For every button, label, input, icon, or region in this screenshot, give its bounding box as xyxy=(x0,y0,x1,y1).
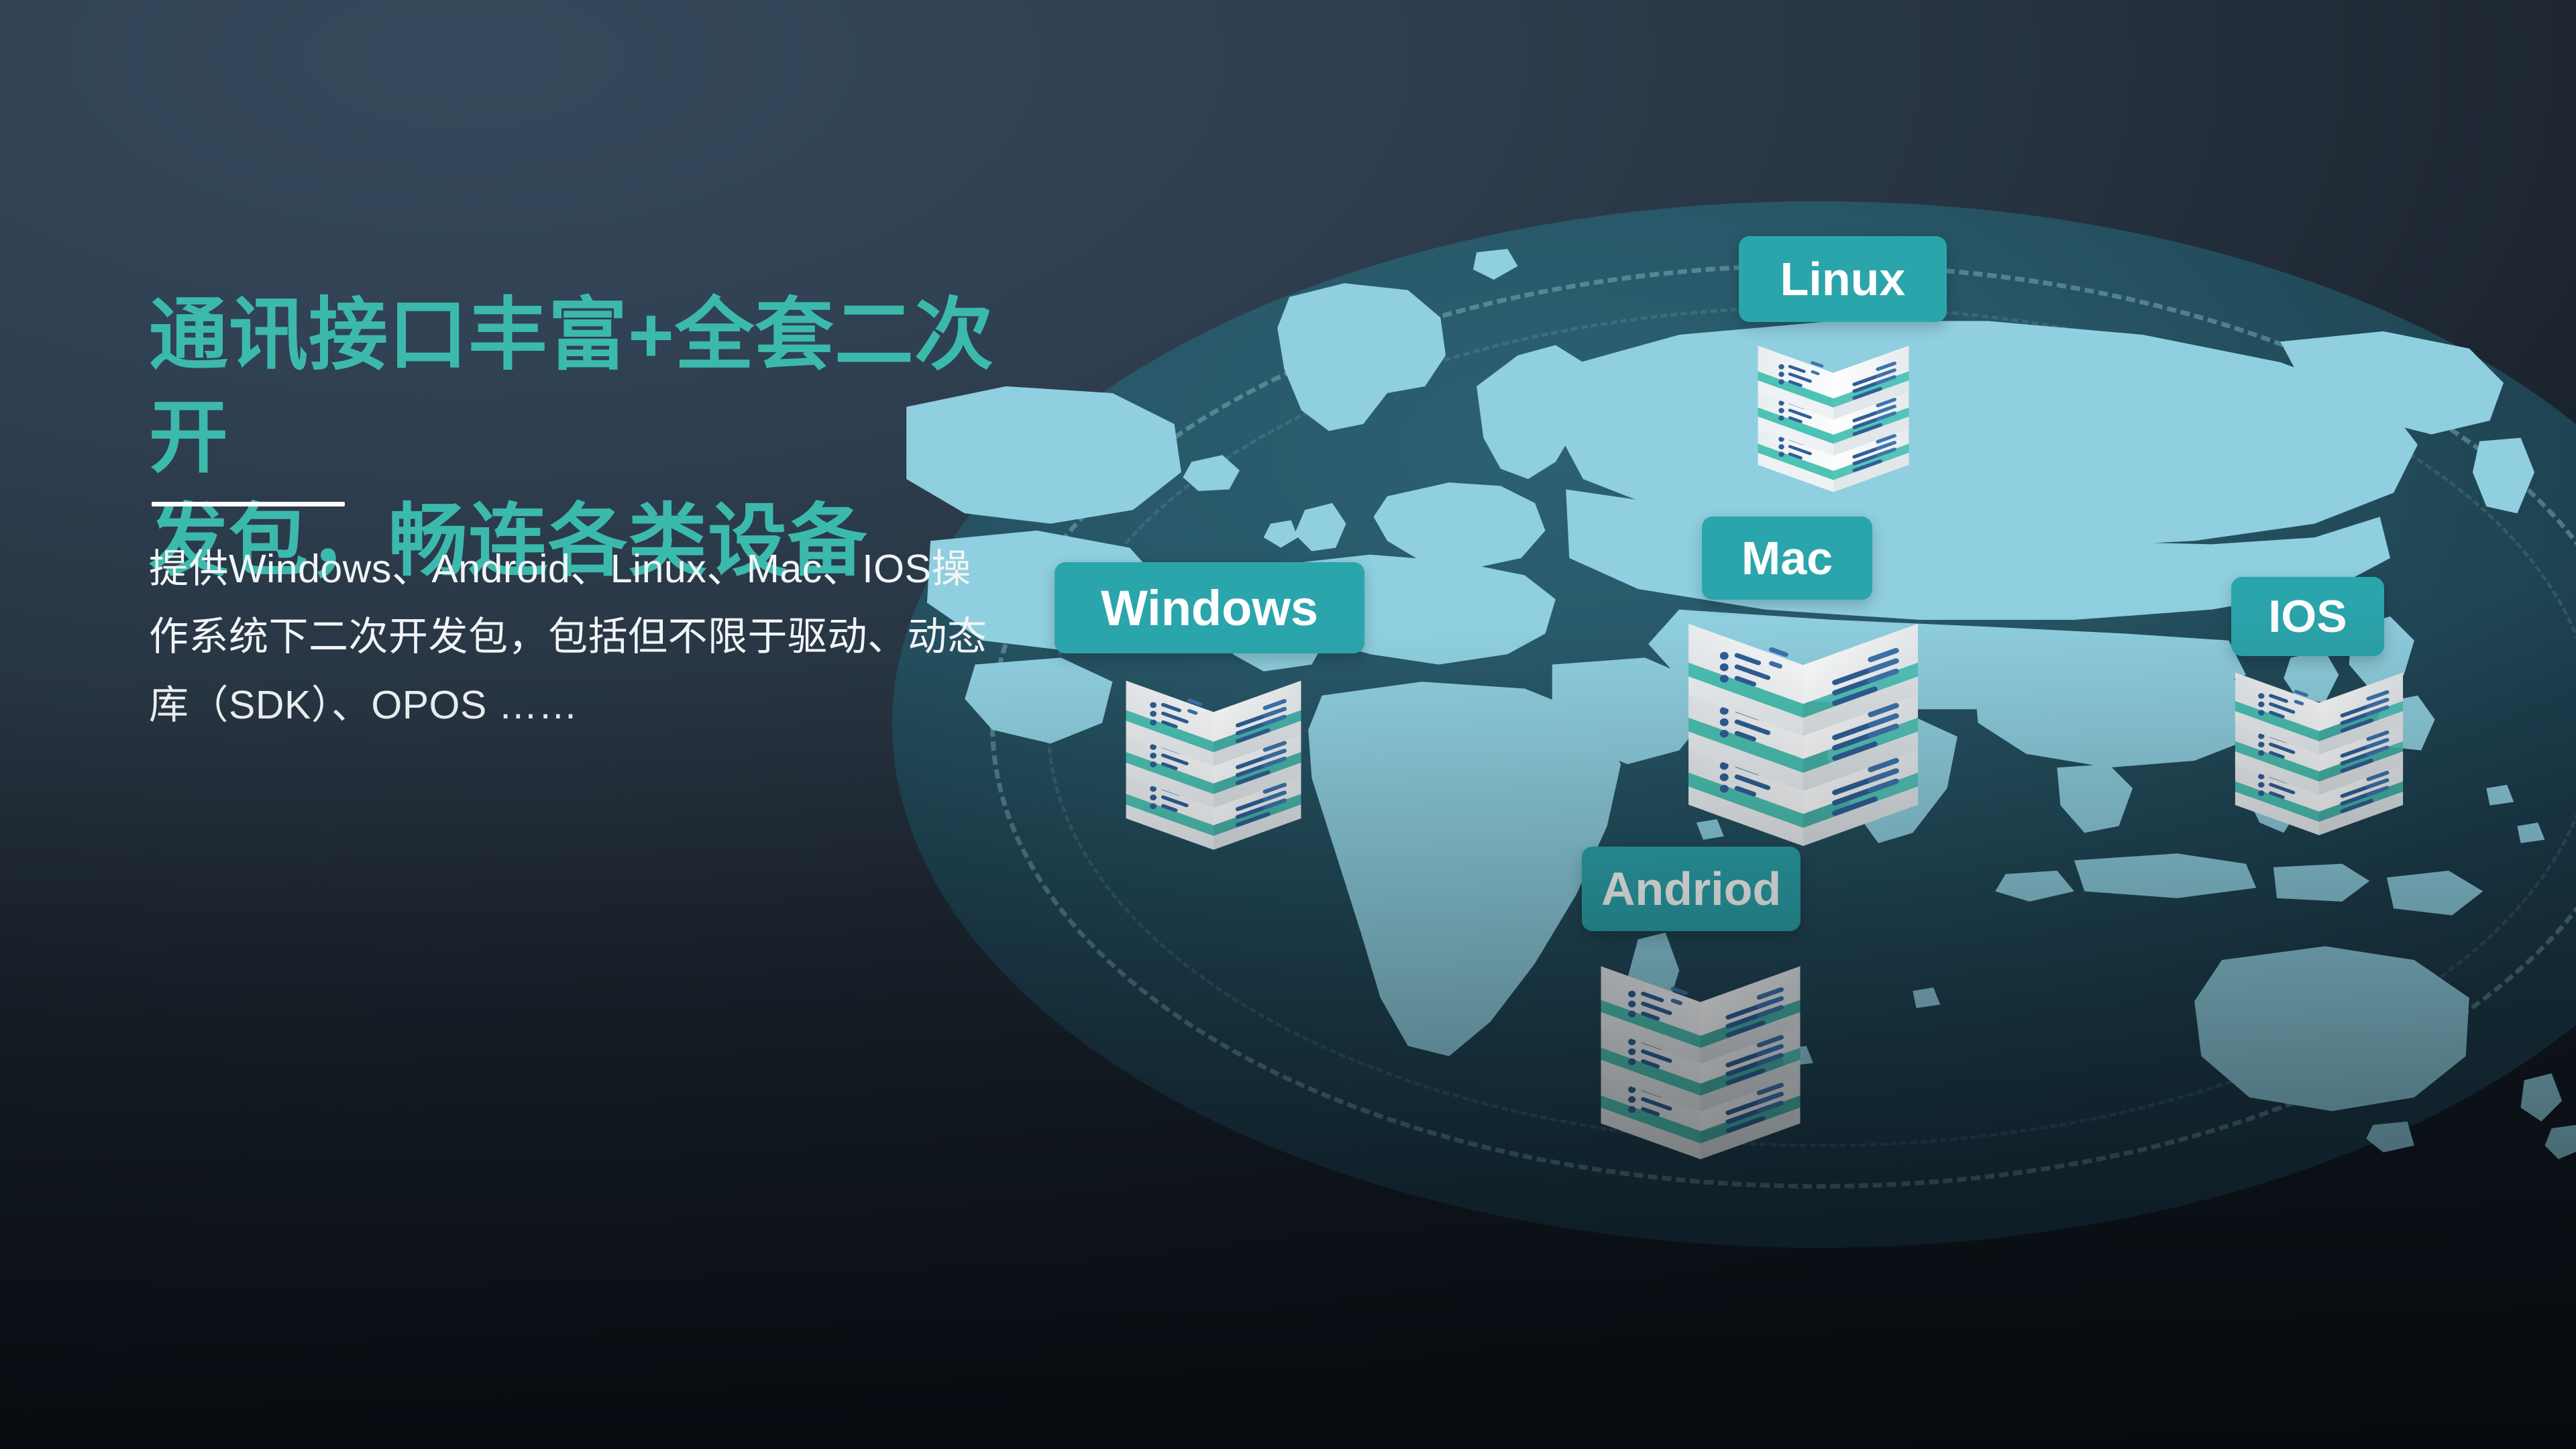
platform-badge-windows[interactable]: Windows xyxy=(1055,562,1364,653)
platform-badge-andriod[interactable]: Andriod xyxy=(1582,847,1801,931)
server-stack-andriod xyxy=(1590,924,1811,1163)
platform-badge-linux[interactable]: Linux xyxy=(1739,236,1947,322)
slide-canvas: 通讯接口丰富+全套二次开 发包，畅连各类设备 提供Windows、Android… xyxy=(0,0,2576,1449)
title-divider xyxy=(152,502,345,506)
platform-badge-label: Andriod xyxy=(1601,862,1781,916)
platform-badge-label: IOS xyxy=(2268,590,2347,643)
platform-badge-label: Windows xyxy=(1101,580,1318,637)
platform-badge-label: Mac xyxy=(1741,531,1833,585)
platform-badge-mac[interactable]: Mac xyxy=(1702,517,1872,600)
page-subtitle: 提供Windows、Android、Linux、Mac、IOS操 作系统下二次开… xyxy=(149,535,987,739)
server-stack-windows xyxy=(1116,644,1311,853)
server-stack-linux xyxy=(1750,314,1917,495)
server-stack-ios xyxy=(2226,637,2412,839)
server-stack-mac xyxy=(1676,576,1931,851)
platform-badge-label: Linux xyxy=(1780,252,1906,306)
platform-badge-ios[interactable]: IOS xyxy=(2231,577,2384,656)
